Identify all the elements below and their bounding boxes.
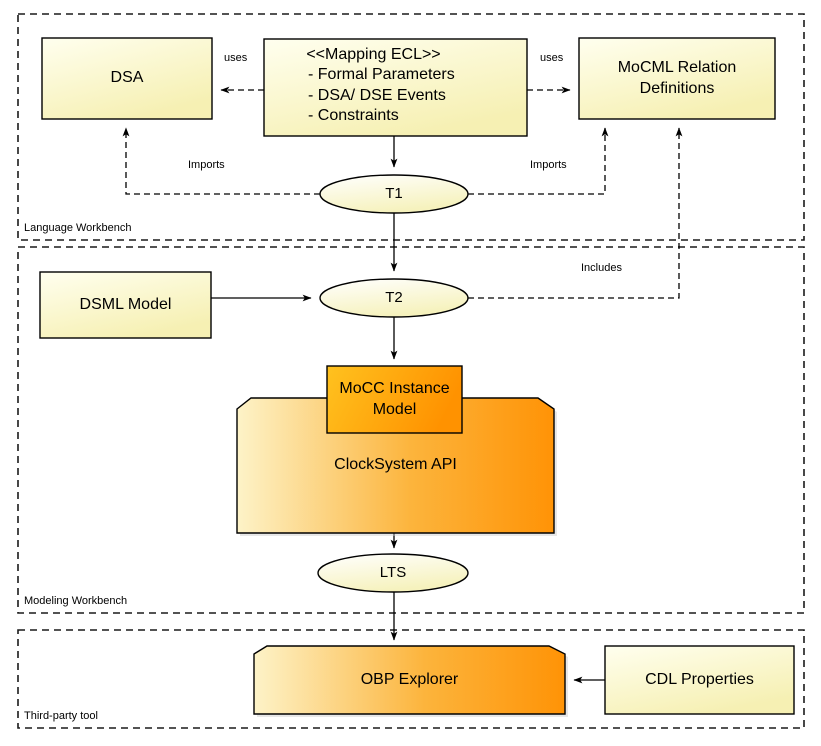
node-shape-dsml-model[interactable] (40, 272, 211, 338)
node-shape-t1[interactable] (320, 175, 468, 213)
node-shape-lts[interactable] (318, 554, 468, 592)
node-shape-cdl-properties[interactable] (605, 646, 794, 714)
container-label-language-workbench: Language Workbench (24, 222, 131, 234)
edge-includes-mocml (468, 128, 679, 298)
diagram-vector-layer (0, 0, 821, 746)
node-shape-dsa[interactable] (42, 38, 212, 119)
node-shape-mocml[interactable] (579, 38, 775, 119)
container-label-third-party-tool: Third-party tool (24, 710, 98, 722)
container-label-modeling-workbench: Modeling Workbench (24, 595, 127, 607)
edge-label-uses-right: uses (540, 52, 563, 64)
node-shape-mocc-instance-model[interactable] (327, 366, 462, 433)
edge-label-uses-left: uses (224, 52, 247, 64)
edge-label-imports-right: Imports (530, 159, 567, 171)
diagram-canvas: DSA <<Mapping ECL>> - Formal Parameters … (0, 0, 821, 746)
node-shape-t2[interactable] (320, 279, 468, 317)
node-shape-mapping-ecl[interactable] (264, 39, 527, 136)
edge-label-imports-left: Imports (188, 159, 225, 171)
node-shape-obp-explorer[interactable] (254, 646, 568, 717)
edge-label-includes: Includes (581, 262, 622, 274)
